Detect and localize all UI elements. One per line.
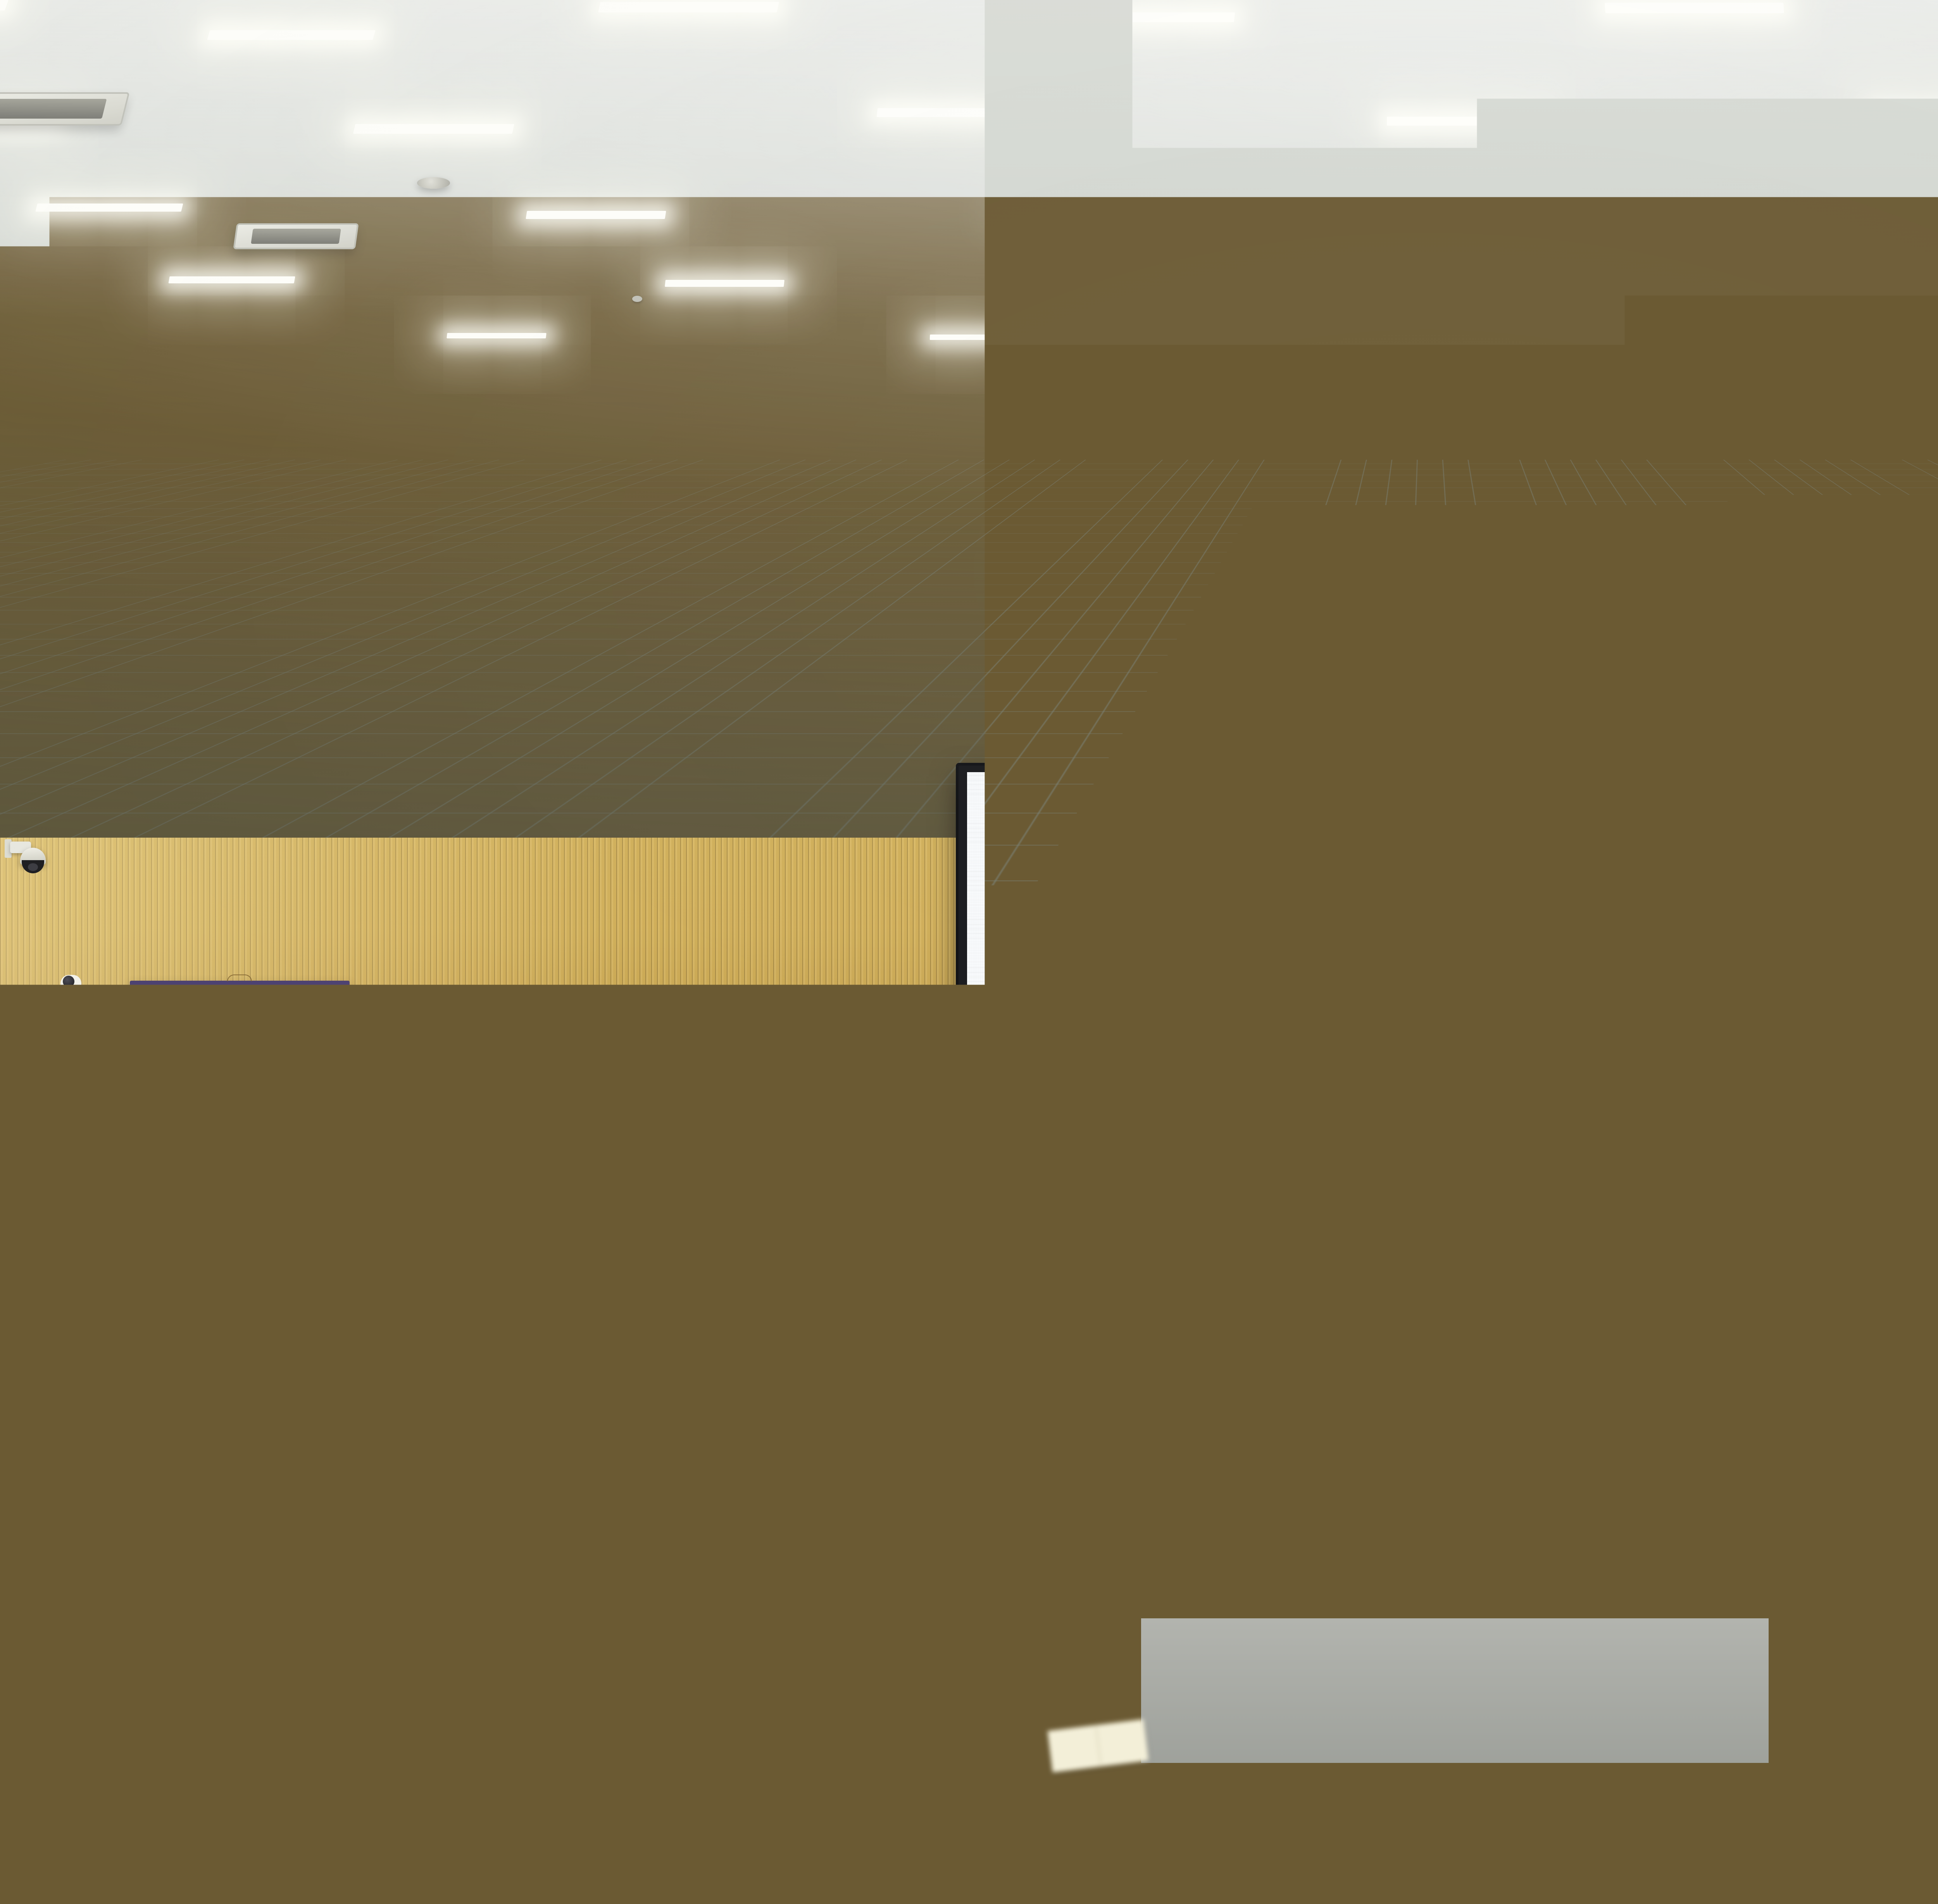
side-podium-left bbox=[9, 1226, 185, 1390]
tea-cup bbox=[910, 1255, 926, 1283]
ptz-dome-camera bbox=[10, 842, 53, 880]
seated-presenter bbox=[987, 1142, 1113, 1264]
podium-title-cn: 四川铁道职业学院 bbox=[316, 1247, 397, 1256]
ceiling bbox=[0, 0, 1938, 885]
podium-emblem-icon bbox=[331, 1312, 383, 1364]
name-card-text: 顾永安 bbox=[1174, 1275, 1197, 1284]
wall-speaker-left bbox=[73, 1070, 102, 1114]
potted-plant bbox=[208, 1405, 322, 1519]
potted-plant bbox=[1563, 1378, 1683, 1500]
list-item: 主要从事应用型高等教育研究,主持国家级、省部级等项目40余项,出版专著3部,在C… bbox=[1009, 989, 1471, 1077]
sign-title-en: Sichuan Railway College bbox=[168, 1020, 295, 1026]
slide-logo-cn: 四川铁道职业学院 bbox=[1028, 794, 1171, 811]
sign-title-en: Southwest Railway Vocational Education G… bbox=[156, 1114, 288, 1119]
speaker-portrait bbox=[1563, 866, 1759, 1210]
name-card-attendee bbox=[1512, 1348, 1560, 1371]
slide-logo: 四川铁道职业学院 Sichuan Railway College bbox=[1000, 794, 1171, 819]
aisle-carpet bbox=[1141, 1618, 1769, 1763]
sign-title-cn: 西南铁道职业教育集团 bbox=[156, 1099, 288, 1112]
slide-title: 顾永安 bbox=[1017, 878, 1104, 904]
slide-bullet-list: 苏州工学院二级教授,中共党员,博士生导师,教育部本科教学工作评估专家,中国高等教… bbox=[1009, 947, 1471, 1083]
speaker-podium: 四川铁道职业学院 Sichuan Railway College bbox=[291, 1180, 422, 1420]
list-item: 苏州工学院二级教授,中共党员,博士生导师,教育部本科教学工作评估专家,中国高等教… bbox=[1009, 947, 1471, 983]
podium-nameplate: 四川铁道职业学院 Sichuan Railway College bbox=[296, 1233, 417, 1274]
laptop-bag bbox=[1158, 1344, 1232, 1380]
thermos-red bbox=[1489, 1306, 1508, 1344]
sign-title-cn: 四川铁道职业学院 bbox=[168, 1003, 295, 1018]
podium-title-en: Sichuan Railway College bbox=[324, 1257, 390, 1260]
potted-plant bbox=[548, 1397, 667, 1516]
name-card-text: 王红超 bbox=[1184, 1423, 1204, 1431]
name-card-attendee: 王红超 bbox=[1167, 1405, 1221, 1432]
open-notebook bbox=[1048, 1719, 1149, 1773]
podium-microphone bbox=[322, 1135, 331, 1193]
name-card-speaker: 顾永安 bbox=[1155, 1257, 1216, 1285]
vacuum-bottle bbox=[1233, 1243, 1252, 1287]
bullet-text: 苏州工学院二级教授,中共党员,博士生导师,教育部本科教学工作评估专家,中国高等教… bbox=[1018, 947, 1471, 983]
group-seal-icon bbox=[127, 1097, 150, 1121]
title-divider bbox=[1017, 924, 1267, 925]
bullet-dot-icon bbox=[1009, 994, 1013, 998]
bullet-dot-icon bbox=[1009, 952, 1013, 957]
conference-camera-left bbox=[67, 975, 106, 997]
vacuum-bottle bbox=[1055, 1348, 1073, 1386]
bullet-text: 主要从事应用型高等教育研究,主持国家级、省部级等项目40余项,出版专著3部,在C… bbox=[1018, 989, 1471, 1077]
potted-plant bbox=[1250, 1356, 1381, 1538]
college-seal-icon bbox=[1000, 795, 1023, 818]
college-seal-icon bbox=[138, 1003, 162, 1026]
power-cable bbox=[1016, 1281, 1062, 1357]
slide-logo-en: Sichuan Railway College bbox=[1028, 813, 1171, 819]
power-cable bbox=[1110, 1281, 1151, 1350]
wall-sign-college: 四川铁道职业学院 Sichuan Railway College bbox=[130, 981, 350, 1048]
auditorium-scene: 四川铁道职业学院 Sichuan Railway College 顾永安 苏州工… bbox=[0, 0, 1938, 1904]
sign-hook bbox=[227, 974, 252, 981]
